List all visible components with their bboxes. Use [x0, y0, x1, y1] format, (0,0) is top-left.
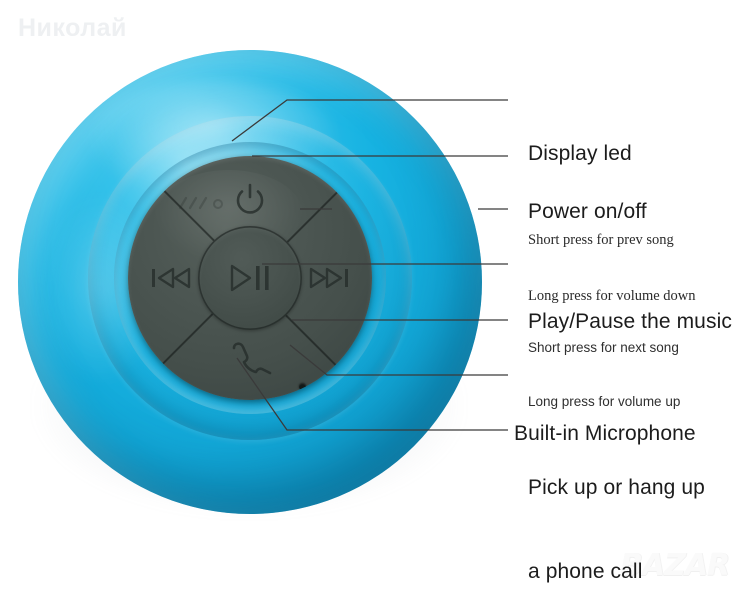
callout-line: Short press for prev song	[528, 231, 696, 250]
author-watermark: Николай	[18, 14, 127, 43]
callout-line: a phone call	[528, 558, 705, 586]
callout-label-phone-call: Pick up or hang up a phone call	[528, 418, 705, 600]
previous-track-icon[interactable]	[150, 262, 192, 294]
microphone-hole	[299, 383, 306, 390]
speaker-image	[10, 44, 490, 524]
callout-line: Short press for next song	[528, 339, 680, 357]
play-pause-icon	[226, 260, 276, 296]
next-track-icon[interactable]	[308, 262, 350, 294]
control-panel	[128, 156, 372, 400]
callout-line: Pick up or hang up	[528, 474, 705, 502]
phone-handset-icon[interactable]	[228, 340, 274, 376]
led-indicator	[176, 192, 234, 214]
power-icon[interactable]	[233, 182, 267, 216]
product-diagram: Николай BAZAR	[0, 0, 737, 600]
play-pause-button[interactable]	[198, 226, 302, 330]
